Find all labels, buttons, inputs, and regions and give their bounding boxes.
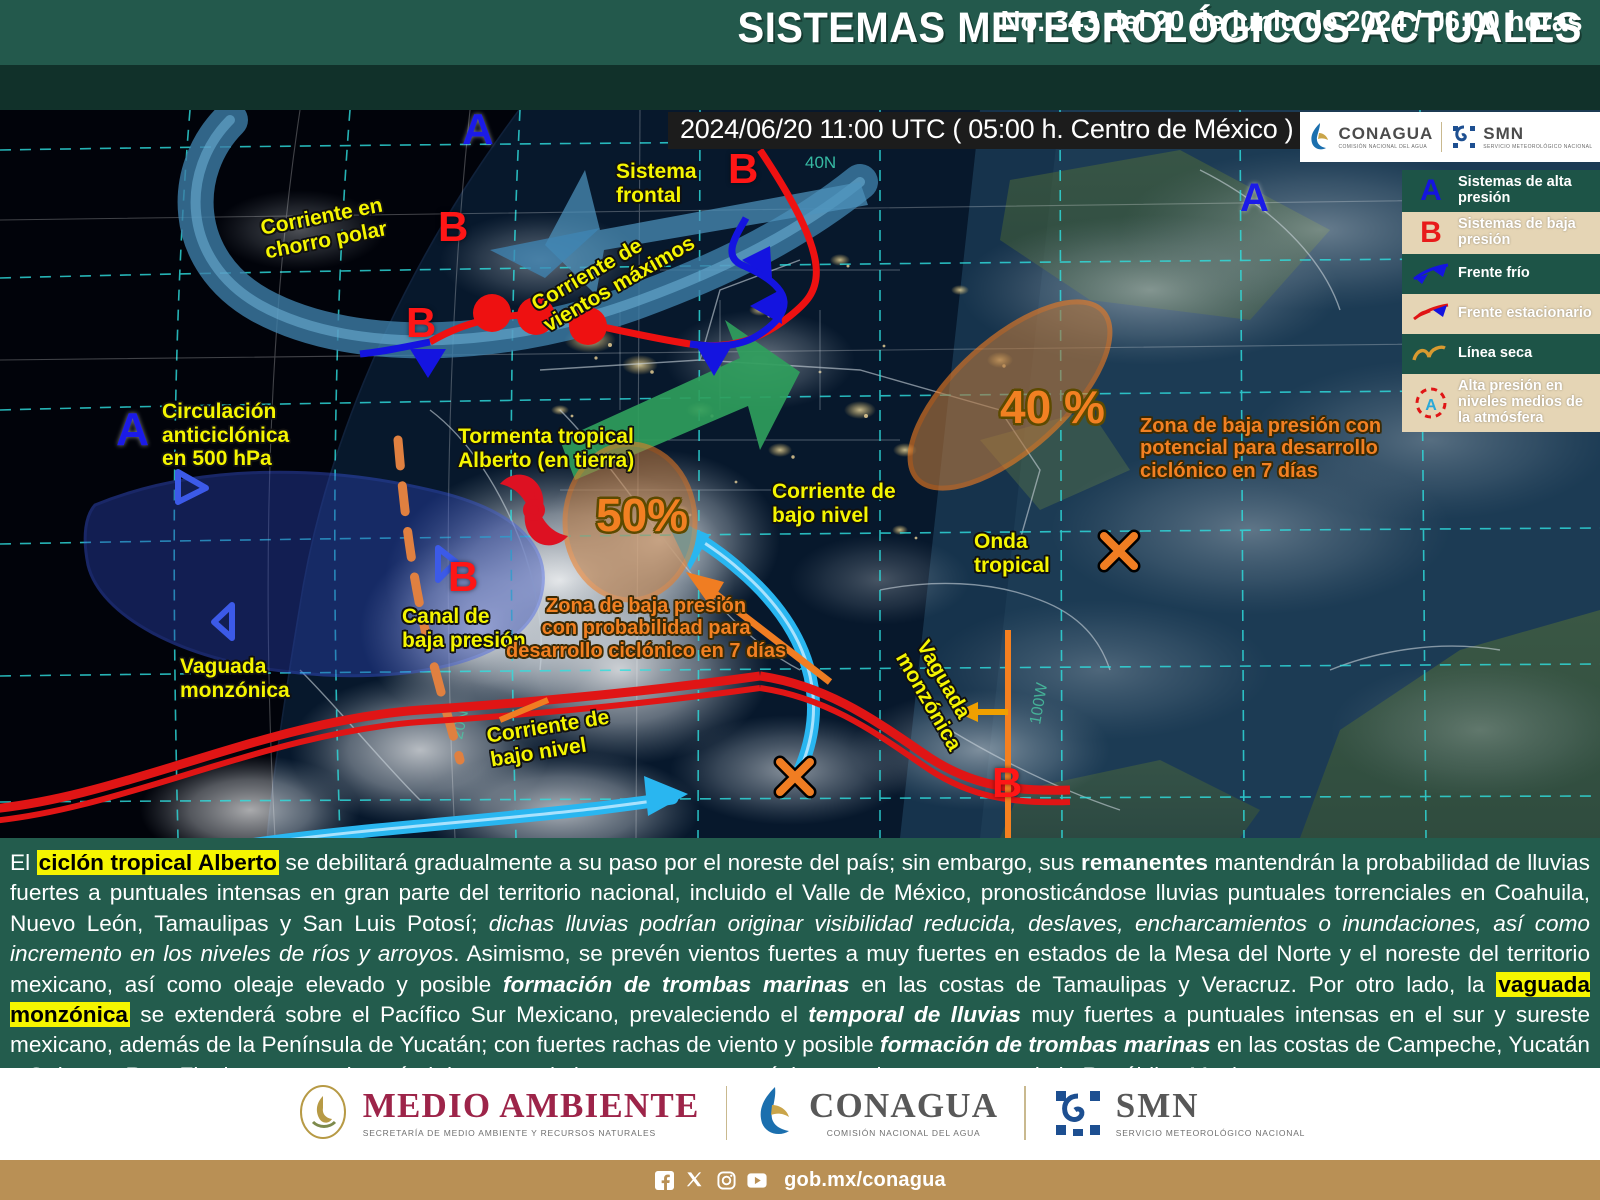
legend-panel: A Sistemas de alta presión B Sistemas de… (1402, 170, 1600, 432)
conagua-wave-icon (1307, 122, 1333, 152)
summary-fragment: El (10, 850, 37, 875)
medio-ambiente-name: MEDIO AMBIENTE (363, 1086, 700, 1126)
medio-ambiente-sub: SECRETARÍA DE MEDIO AMBIENTE Y RECURSOS … (363, 1128, 700, 1139)
letter-B-red-icon: B (1410, 218, 1452, 248)
social-footer-bar: gob.mx/conagua (0, 1160, 1600, 1200)
legend-label-mid-level-high: Alta presión en niveles medios de la atm… (1458, 379, 1594, 427)
satellite-map[interactable]: 40N 20N 100W (0, 110, 1600, 838)
bulletin-number-date: No. 343 del 20 de junio de 2024 / 06:00 … (1000, 6, 1582, 39)
facebook-icon[interactable] (654, 1170, 674, 1190)
summary-fragment: remanentes (1081, 850, 1208, 875)
x-twitter-icon[interactable] (685, 1170, 705, 1190)
weather-overlays (0, 110, 1600, 838)
conagua-logo: CONAGUA COMISIÓN NACIONAL DEL AGUA (1307, 122, 1433, 152)
conagua-footer-logo: CONAGUA COMISIÓN NACIONAL DEL AGUA (753, 1085, 998, 1141)
conagua-logo-name: CONAGUA (1338, 124, 1433, 144)
letter-A-blue-icon: A (1410, 176, 1452, 206)
summary-fragment: ciclón tropical Alberto (37, 850, 279, 875)
logo-divider (1441, 122, 1442, 152)
svg-text:A: A (1425, 397, 1437, 414)
legend-item-mid-level-high: A Alta presión en niveles medios de la a… (1402, 374, 1600, 432)
legend-item-stationary-front: Frente estacionario (1402, 294, 1600, 334)
top-logo-strip: CONAGUA COMISIÓN NACIONAL DEL AGUA SMN S… (1300, 112, 1600, 162)
footer-divider-2 (1024, 1086, 1026, 1140)
summary-fragment: se extenderá sobre el Pacífico Sur Mexic… (130, 1002, 808, 1027)
conagua-wave-icon (753, 1085, 797, 1141)
youtube-icon[interactable] (747, 1170, 767, 1190)
smn-spiral-icon (1450, 123, 1478, 151)
smn-logo: SMN SERVICIO METEOROLÓGICO NACIONAL (1450, 123, 1592, 151)
conagua-footer-name: CONAGUA (809, 1086, 998, 1126)
smn-footer-logo: SMN SERVICIO METEOROLÓGICO NACIONAL (1052, 1086, 1305, 1139)
mid-level-high-icon: A (1410, 386, 1452, 420)
summary-fragment: formación de trombas marinas (880, 1032, 1211, 1057)
footer-logo-strip: MEDIO AMBIENTE SECRETARÍA DE MEDIO AMBIE… (0, 1068, 1600, 1158)
gob-mx-seal-icon (295, 1082, 351, 1144)
summary-fragment: formación de trombas marinas (503, 972, 850, 997)
legend-label-high-pressure: Sistemas de alta presión (1458, 175, 1594, 207)
summary-fragment: en las costas de Tamaulipas y Veracruz. … (850, 972, 1497, 997)
legend-item-dry-line: Línea seca (1402, 334, 1600, 374)
conagua-footer-sub: COMISIÓN NACIONAL DEL AGUA (809, 1128, 998, 1139)
header-subtitle-band (0, 65, 1600, 110)
summary-fragment: se debilitará gradualmente a su paso por… (279, 850, 1081, 875)
footer-divider-1 (726, 1086, 728, 1140)
legend-label-low-pressure: Sistemas de baja presión (1458, 217, 1594, 249)
dry-line-icon (1410, 342, 1452, 366)
conagua-logo-sub: COMISIÓN NACIONAL DEL AGUA (1338, 144, 1433, 150)
smn-footer-name: SMN (1116, 1086, 1305, 1126)
stationary-front-icon (1410, 302, 1452, 326)
smn-logo-sub: SERVICIO METEOROLÓGICO NACIONAL (1483, 144, 1592, 150)
legend-label-stationary-front: Frente estacionario (1458, 306, 1592, 322)
summary-fragment: temporal de lluvias (808, 1002, 1021, 1027)
legend-label-dry-line: Línea seca (1458, 346, 1532, 362)
smn-logo-name: SMN (1483, 124, 1592, 144)
legend-item-cold-front: Frente frío (1402, 254, 1600, 294)
legend-item-low-pressure: B Sistemas de baja presión (1402, 212, 1600, 254)
summary-paragraph: El ciclón tropical Alberto se debilitará… (10, 850, 1590, 1088)
legend-item-high-pressure: A Sistemas de alta presión (1402, 170, 1600, 212)
map-timestamp: 2024/06/20 11:00 UTC ( 05:00 h. Centro d… (668, 112, 1305, 149)
footer-url[interactable]: gob.mx/conagua (784, 1169, 946, 1192)
instagram-icon[interactable] (716, 1170, 736, 1190)
probability-40: 40 % (1000, 380, 1105, 434)
smn-footer-sub: SERVICIO METEOROLÓGICO NACIONAL (1116, 1128, 1305, 1139)
summary-text: El ciclón tropical Alberto se debilitará… (0, 838, 1600, 1068)
probability-50: 50% (596, 488, 688, 542)
legend-label-cold-front: Frente frío (1458, 266, 1530, 282)
smn-spiral-icon (1052, 1087, 1104, 1139)
cold-front-icon (1410, 262, 1452, 286)
medio-ambiente-logo: MEDIO AMBIENTE SECRETARÍA DE MEDIO AMBIE… (295, 1082, 700, 1144)
